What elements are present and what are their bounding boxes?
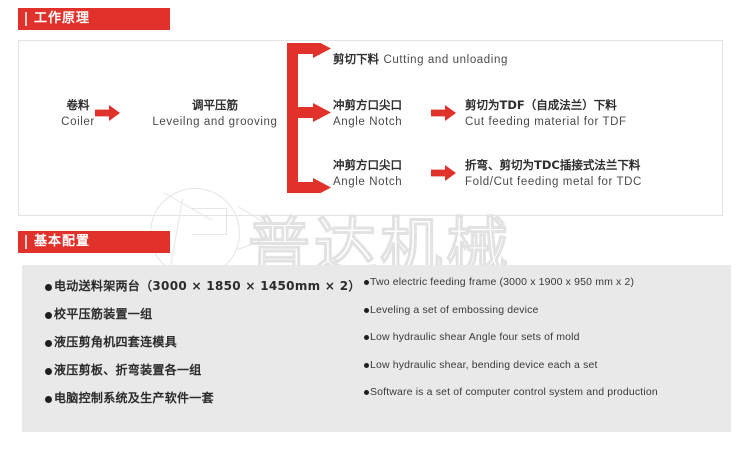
flow-node-angle-notch-1-cn: 冲剪方口尖口 [333, 97, 443, 114]
bullet-dot-icon [364, 280, 369, 285]
section-title-config: 基本配置 [34, 235, 90, 249]
flow-node-tdc: 折弯、剪切为TDC插接式法兰下料 Fold/Cut feeding metal … [465, 157, 715, 190]
flow-node-angle-notch-2: 冲剪方口尖口 Angle Notch [333, 157, 443, 190]
bullet-dot-icon [364, 308, 369, 313]
flow-node-tdf-cn: 剪切为TDF（自成法兰）下料 [465, 97, 705, 114]
bullet-dot-icon [45, 396, 52, 403]
spec-cn-item: 电动送料架两台（3000 × 1850 × 1450mm × 2） [45, 279, 375, 294]
bullet-dot-icon [364, 335, 369, 340]
spec-cn-item-label: 电脑控制系统及生产软件一套 [54, 391, 214, 406]
watermark-stroke [237, 239, 266, 250]
spec-cn-item: 校平压筋装置一组 [45, 307, 375, 322]
flow-node-angle-notch-1-en: Angle Notch [333, 114, 443, 131]
section-title-principle: 工作原理 [34, 12, 90, 26]
flow-node-angle-notch-2-en: Angle Notch [333, 174, 443, 191]
spec-list-chinese: 电动送料架两台（3000 × 1850 × 1450mm × 2）校平压筋装置一… [45, 279, 375, 419]
flow-node-cutting-unloading-cn: 剪切下料 [333, 52, 379, 66]
spec-cn-item: 液压剪板、折弯装置各一组 [45, 363, 375, 378]
spec-en-item: Low hydraulic shear Angle four sets of m… [364, 331, 724, 344]
spec-cn-item: 电脑控制系统及生产软件一套 [45, 391, 375, 406]
spec-en-item-label: Low hydraulic shear, bending device each… [370, 359, 598, 372]
spec-en-item-label: Low hydraulic shear Angle four sets of m… [370, 331, 580, 344]
flow-node-cutting-unloading-en: Cutting and unloading [383, 54, 508, 66]
flow-node-tdf: 剪切为TDF（自成法兰）下料 Cut feeding material for … [465, 97, 705, 130]
section-banner-principle: 工作原理 [18, 8, 170, 30]
spec-en-item: Software is a set of computer control sy… [364, 386, 724, 399]
bullet-dot-icon [45, 340, 52, 347]
spec-en-item: Low hydraulic shear, bending device each… [364, 359, 724, 372]
flow-arrow-right-icon [431, 165, 456, 181]
banner-tick-icon [25, 12, 27, 26]
bullet-dot-icon [45, 284, 52, 291]
bullet-dot-icon [364, 363, 369, 368]
flow-arrow-right-icon [95, 105, 120, 121]
spec-list-english: Two electric feeding frame (3000 x 1900 … [364, 276, 724, 414]
bullet-dot-icon [45, 312, 52, 319]
flow-node-tdc-en: Fold/Cut feeding metal for TDC [465, 174, 715, 191]
flow-node-leveling-cn: 调平压筋 [125, 97, 305, 114]
flow-node-cutting-unloading: 剪切下料 Cutting and unloading [333, 47, 633, 70]
basic-configuration-panel: 电动送料架两台（3000 × 1850 × 1450mm × 2）校平压筋装置一… [22, 265, 731, 432]
bullet-dot-icon [45, 368, 52, 375]
flow-node-angle-notch-2-cn: 冲剪方口尖口 [333, 157, 443, 174]
spec-cn-item-label: 液压剪板、折弯装置各一组 [54, 363, 202, 378]
spec-cn-item-label: 校平压筋装置一组 [54, 307, 152, 322]
process-flow-diagram: 卷料 Coiler 调平压筋 Leveilng and grooving [18, 40, 723, 216]
spec-cn-item: 液压剪角机四套连模具 [45, 335, 375, 350]
flow-node-tdf-en: Cut feeding material for TDF [465, 114, 705, 131]
spec-en-item: Leveling a set of embossing device [364, 304, 724, 317]
spec-cn-item-label: 电动送料架两台（3000 × 1850 × 1450mm × 2） [54, 279, 361, 294]
section-banner-config: 基本配置 [18, 231, 170, 253]
spec-cn-item-label: 液压剪角机四套连模具 [54, 335, 177, 350]
flow-arrow-right-icon [431, 105, 456, 121]
spec-en-item-label: Software is a set of computer control sy… [370, 386, 658, 399]
bullet-dot-icon [364, 390, 369, 395]
spec-en-item-label: Two electric feeding frame (3000 x 1900 … [370, 276, 634, 289]
flow-node-leveling: 调平压筋 Leveilng and grooving [125, 97, 305, 130]
flow-node-tdc-cn: 折弯、剪切为TDC插接式法兰下料 [465, 157, 715, 174]
spec-en-item: Two electric feeding frame (3000 x 1900 … [364, 276, 724, 289]
watermark-stroke [192, 234, 226, 235]
flow-node-leveling-en: Leveilng and grooving [125, 114, 305, 131]
flow-node-angle-notch-1: 冲剪方口尖口 Angle Notch [333, 97, 443, 130]
spec-en-item-label: Leveling a set of embossing device [370, 304, 539, 317]
banner-tick-icon [25, 235, 27, 249]
